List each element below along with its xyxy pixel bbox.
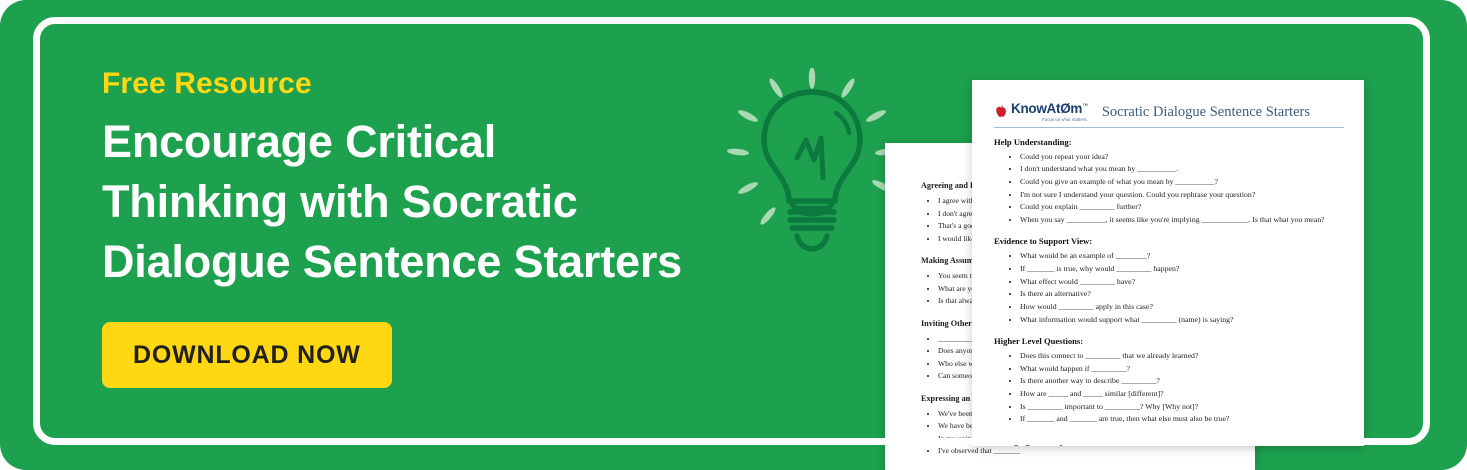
document-front-body: KnowAtØm™ Focus on what matters. Socrati… — [972, 80, 1364, 446]
logo-word-part2: m — [1070, 101, 1082, 116]
download-now-button[interactable]: DOWNLOAD NOW — [102, 322, 392, 388]
eyebrow-label: Free Resource — [102, 66, 762, 102]
list-item: What effect would _________ have? — [1020, 276, 1344, 289]
promo-copy: Free Resource Encourage Critical Thinkin… — [102, 66, 762, 388]
knowatom-logo: KnowAtØm™ Focus on what matters. — [994, 102, 1088, 122]
list-item: I'm not sure I understand your question.… — [1020, 189, 1344, 202]
page-title: Encourage Critical Thinking with Socrati… — [102, 112, 762, 292]
section-list-evidence-to-support-view: What would be an example of ________? If… — [994, 250, 1344, 326]
section-list-higher-level-questions: Does this connect to _________ that we a… — [994, 350, 1344, 426]
list-item: Does this connect to _________ that we a… — [1020, 350, 1344, 363]
logo-word: KnowAtØm™ — [1011, 102, 1088, 116]
headline-line-1: Encourage Critical — [102, 112, 762, 172]
document-title: Socratic Dialogue Sentence Starters — [1102, 104, 1310, 122]
list-item: What information would support what ____… — [1020, 314, 1344, 327]
apple-icon — [994, 104, 1008, 119]
document-front[interactable]: KnowAtØm™ Focus on what matters. Socrati… — [972, 80, 1364, 446]
section-heading-evidence-to-support-view: Evidence to Support View: — [994, 236, 1344, 246]
list-item: I've observed that _______ — [938, 445, 1251, 458]
list-item: Could you repeat your idea? — [1020, 151, 1344, 164]
headline-line-2: Thinking with Socratic — [102, 172, 762, 232]
headline-line-3: Dialogue Sentence Starters — [102, 232, 762, 292]
promo-banner: Free Resource Encourage Critical Thinkin… — [0, 0, 1467, 470]
list-item: What would be an example of ________? — [1020, 250, 1344, 263]
section-heading-higher-level-questions: Higher Level Questions: — [994, 336, 1344, 346]
list-item: How would _________ apply in this case? — [1020, 301, 1344, 314]
list-item: If _______ and _______ are true, then wh… — [1020, 413, 1344, 426]
section-heading-changing-the-subject: Changing the Subject: — [994, 436, 1344, 446]
list-item: When you say __________, it seems like y… — [1020, 214, 1344, 227]
section-list-help-understanding: Could you repeat your idea? I don't unde… — [994, 151, 1344, 227]
list-item: What would happen if _________? — [1020, 363, 1344, 376]
document-header: KnowAtØm™ Focus on what matters. Socrati… — [994, 102, 1344, 128]
logo-word-part1: KnowAt — [1011, 101, 1060, 116]
trademark-symbol: ™ — [1082, 104, 1088, 110]
list-item: Could you explain _________ further? — [1020, 201, 1344, 214]
list-item: Is _________ important to _________? Why… — [1020, 401, 1344, 414]
logo-tagline: Focus on what matters. — [1011, 118, 1088, 122]
list-item: Is there an alternative? — [1020, 288, 1344, 301]
list-item: Could you give an example of what you me… — [1020, 176, 1344, 189]
list-item: If _______ is true, why would _________ … — [1020, 263, 1344, 276]
list-item: I don't understand what you mean by ____… — [1020, 163, 1344, 176]
list-item: Is there another way to describe _______… — [1020, 375, 1344, 388]
section-heading-help-understanding: Help Understanding: — [994, 137, 1344, 147]
logo-wordmark: KnowAtØm™ Focus on what matters. — [1011, 102, 1088, 122]
logo-atom-glyph: Ø — [1060, 101, 1070, 116]
list-item: How are _____ and _____ similar [differe… — [1020, 388, 1344, 401]
